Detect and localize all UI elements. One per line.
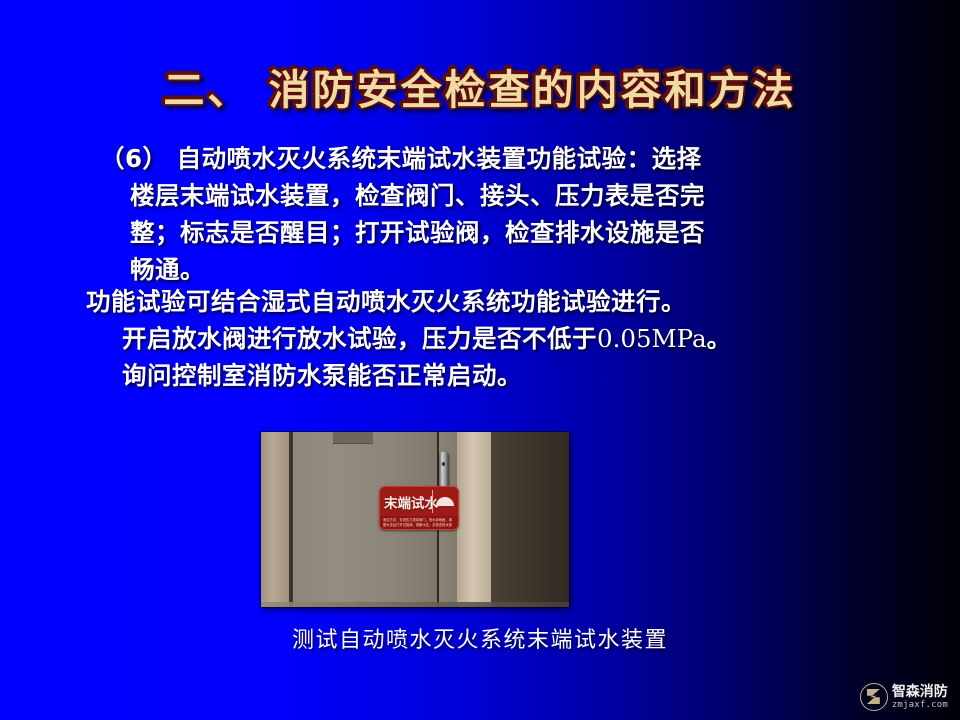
slide-canvas: 二、 消防安全检查的内容和方法 （6） 自动喷水灭火系统末端试水装置功能试验：选… <box>0 0 960 720</box>
end-test-water-sign: 末端试水 测试方法：关闭压力表前阀门，放水到地面，调整水压后打开试验阀，观察水压… <box>379 486 459 530</box>
photo-door-lock-hole <box>442 462 445 466</box>
watermark: 智森消防 zmjaxf.com <box>860 682 948 712</box>
paragraph-2-line-1: 功能试验可结合湿式自动喷水灭火系统功能试验进行。 <box>86 283 732 320</box>
paragraph-1-line-2: 楼层末端试水装置，检查阀门、接头、压力表是否完 <box>100 177 705 214</box>
photo-floor-line <box>261 602 569 607</box>
sign-main-text: 末端试水 <box>380 492 438 512</box>
watermark-url: zmjaxf.com <box>892 701 948 710</box>
paragraph-2-line-2: 开启放水阀进行放水试验，压力是否不低于0.05MPa。 <box>86 320 732 357</box>
sign-sub-text: 测试方法：关闭压力表前阀门，放水到地面，调整水压后打开试验阀，观察水压，并检查排… <box>380 516 458 529</box>
paragraph-2-line-2-prefix: 开启放水阀进行放水试验，压力是否不低于 <box>122 324 597 353</box>
body-paragraph-2: 功能试验可结合湿式自动喷水灭火系统功能试验进行。 开启放水阀进行放水试验，压力是… <box>86 283 732 394</box>
watermark-brand-name: 智森消防 <box>892 685 948 699</box>
photo-caption: 测试自动喷水灭火系统末端试水装置 <box>0 622 960 654</box>
paragraph-1-line-3: 整；标志是否醒目；打开试验阀，检查排水设施是否 <box>100 214 705 251</box>
sign-divider <box>432 490 433 513</box>
photo-end-test-water-cabinet: 末端试水 测试方法：关闭压力表前阀门，放水到地面，调整水压后打开试验阀，观察水压… <box>261 432 569 607</box>
body-paragraph-1: （6） 自动喷水灭火系统末端试水装置功能试验：选择 楼层末端试水装置，检查阀门、… <box>100 140 705 288</box>
paragraph-2-line-2-suffix: 。 <box>707 324 732 353</box>
brand-logo-icon <box>860 683 888 711</box>
page-title: 二、 消防安全检查的内容和方法 <box>0 68 960 113</box>
photo-wall-right <box>457 432 491 607</box>
pressure-value: 0.05MPa <box>597 324 707 353</box>
photo-wall-left <box>261 432 289 607</box>
paragraph-1-line-1: （6） 自动喷水灭火系统末端试水装置功能试验：选择 <box>100 140 705 177</box>
photo-dark-corridor <box>491 432 569 607</box>
watermark-text: 智森消防 zmjaxf.com <box>892 685 948 710</box>
paragraph-2-line-3: 询问控制室消防水泵能否正常启动。 <box>86 357 732 394</box>
photo-vent-plate <box>333 432 373 444</box>
